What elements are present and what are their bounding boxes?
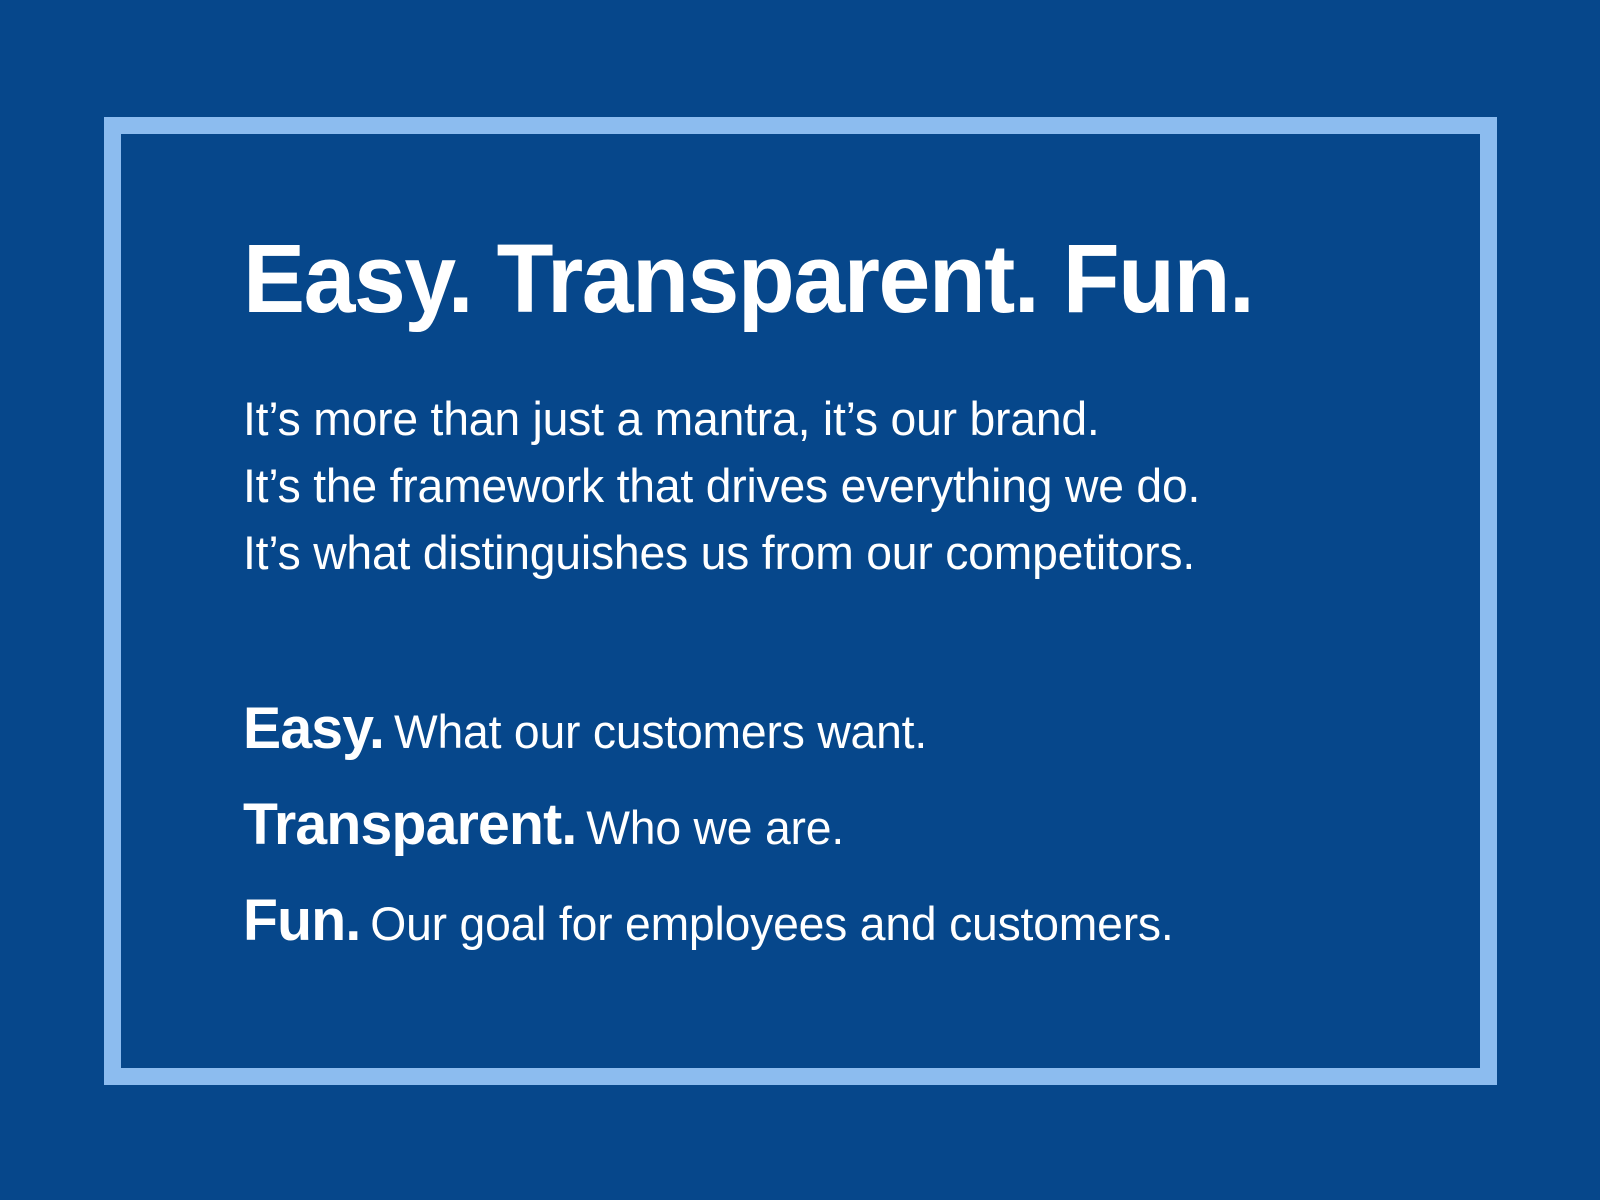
slide-canvas: Easy. Transparent. Fun. It’s more than j… [0,0,1600,1200]
definition-item-easy: Easy.What our customers want. [243,688,1405,784]
slide-content: Easy. Transparent. Fun. It’s more than j… [243,228,1423,976]
definition-item-fun: Fun.Our goal for employees and customers… [243,880,1405,976]
definition-list: Easy.What our customers want. Transparen… [243,586,1423,976]
paragraph-line-2: It’s the framework that drives everythin… [243,452,1405,519]
definition-description-fun: Our goal for employees and customers. [370,897,1173,950]
definition-term-easy: Easy. [243,696,384,761]
definition-description-transparent: Who we are. [586,801,844,854]
paragraph-line-3: It’s what distinguishes us from our comp… [243,519,1405,586]
definition-description-easy: What our customers want. [394,705,927,758]
paragraph-line-1: It’s more than just a mantra, it’s our b… [243,385,1405,452]
definition-term-transparent: Transparent. [243,792,576,857]
definition-term-fun: Fun. [243,888,360,953]
definition-item-transparent: Transparent.Who we are. [243,784,1405,880]
intro-paragraph: It’s more than just a mantra, it’s our b… [243,331,1423,586]
page-title: Easy. Transparent. Fun. [243,228,1376,331]
